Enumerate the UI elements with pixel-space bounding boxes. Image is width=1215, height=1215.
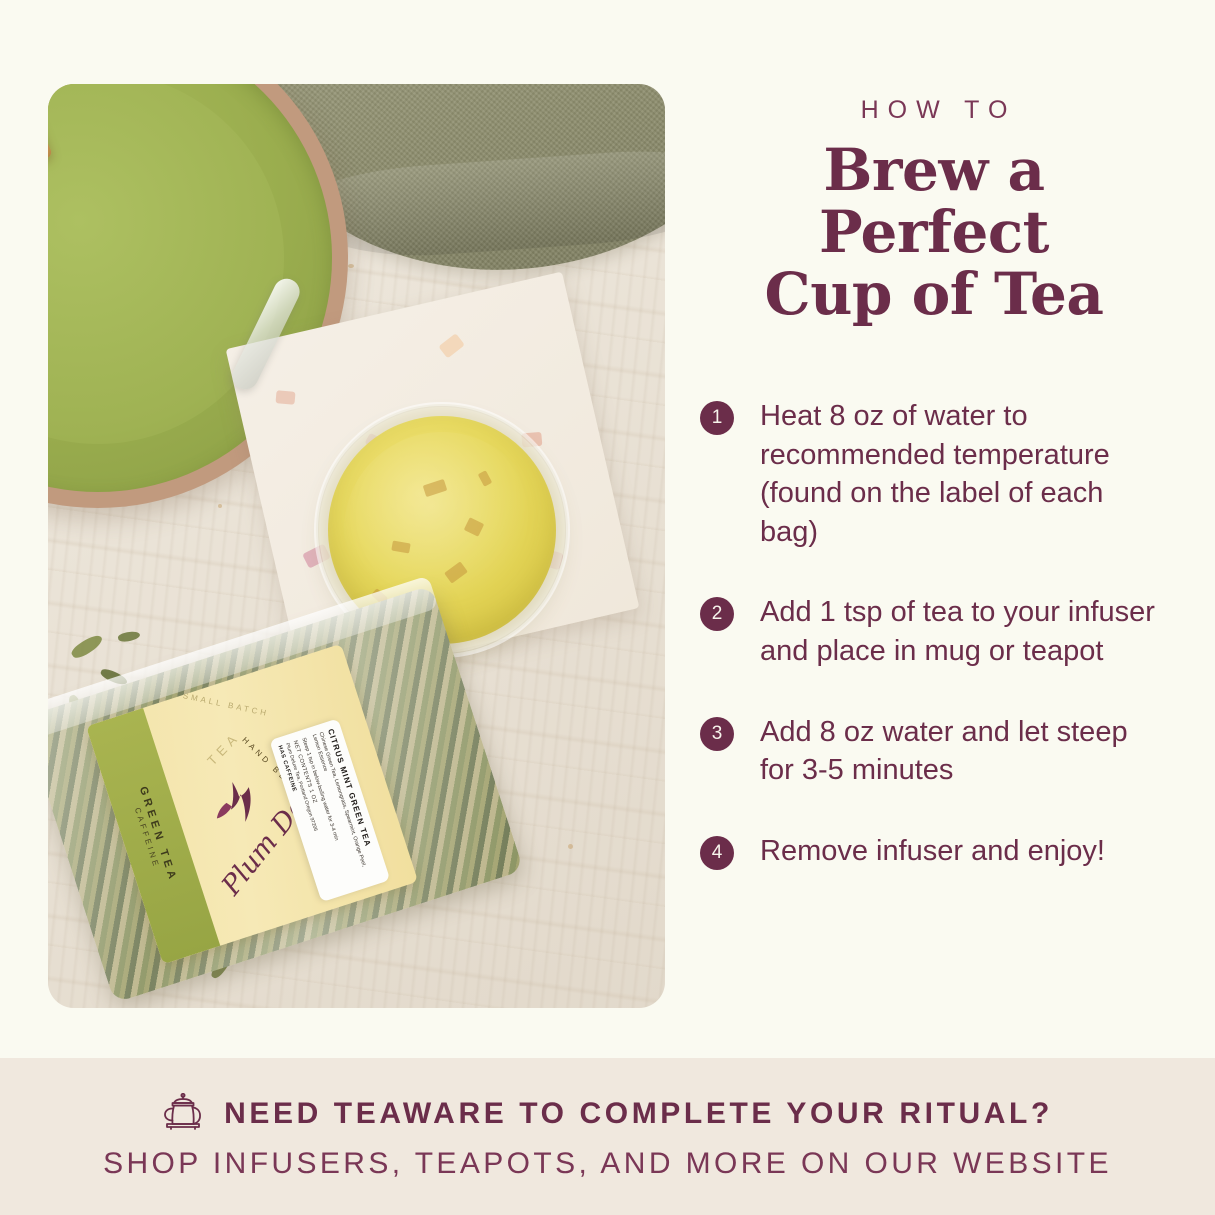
napkin-fold <box>297 144 665 265</box>
instructions-column: HOW TO Brew a Perfect Cup of Tea 1 Heat … <box>700 96 1168 912</box>
pouch-tea-word: TEA <box>204 729 243 768</box>
footer-primary-line: NEED TEAWARE TO COMPLETE YOUR RITUAL? <box>162 1093 1053 1135</box>
step-text: Add 8 oz water and let steep for 3-5 min… <box>760 713 1168 790</box>
wood-speck <box>568 844 573 849</box>
terrazzo-chip <box>275 390 295 405</box>
steps-list: 1 Heat 8 oz of water to recommended temp… <box>700 397 1168 870</box>
step-item: 1 Heat 8 oz of water to recommended temp… <box>700 397 1168 551</box>
footer-subline: SHOP INFUSERS, TEAPOTS, AND MORE ON OUR … <box>103 1147 1112 1181</box>
step-text: Remove infuser and enjoy! <box>760 832 1105 871</box>
step-number-badge: 2 <box>700 597 734 631</box>
wood-speck <box>348 264 354 268</box>
step-item: 2 Add 1 tsp of tea to your infuser and p… <box>700 593 1168 670</box>
headline-line-2: Cup of Tea <box>700 263 1168 325</box>
pouch-small-batch-text: SMALL BATCH <box>182 691 270 718</box>
step-item: 3 Add 8 oz water and let steep for 3-5 m… <box>700 713 1168 790</box>
poster-canvas: GREEN TEA CAFFEINE SMALL BATCH TEA Plum … <box>0 0 1215 1215</box>
step-number-badge: 1 <box>700 401 734 435</box>
eyebrow-how-to: HOW TO <box>700 96 1168 125</box>
footer-banner[interactable]: NEED TEAWARE TO COMPLETE YOUR RITUAL? SH… <box>0 1058 1215 1215</box>
plum-deluxe-bird-logo <box>207 772 271 832</box>
wood-speck <box>218 504 222 508</box>
page-title: Brew a Perfect Cup of Tea <box>700 139 1168 325</box>
footer-headline: NEED TEAWARE TO COMPLETE YOUR RITUAL? <box>224 1097 1053 1131</box>
step-number-badge: 3 <box>700 717 734 751</box>
step-text: Heat 8 oz of water to recommended temper… <box>760 397 1168 551</box>
tea-flat-lay-photo: GREEN TEA CAFFEINE SMALL BATCH TEA Plum … <box>48 84 665 1008</box>
teapot-icon <box>162 1093 206 1135</box>
step-text: Add 1 tsp of tea to your infuser and pla… <box>760 593 1168 670</box>
terrazzo-chip <box>438 333 465 358</box>
headline-line-1: Brew a Perfect <box>700 139 1168 263</box>
step-number-badge: 4 <box>700 836 734 870</box>
step-item: 4 Remove infuser and enjoy! <box>700 832 1168 871</box>
